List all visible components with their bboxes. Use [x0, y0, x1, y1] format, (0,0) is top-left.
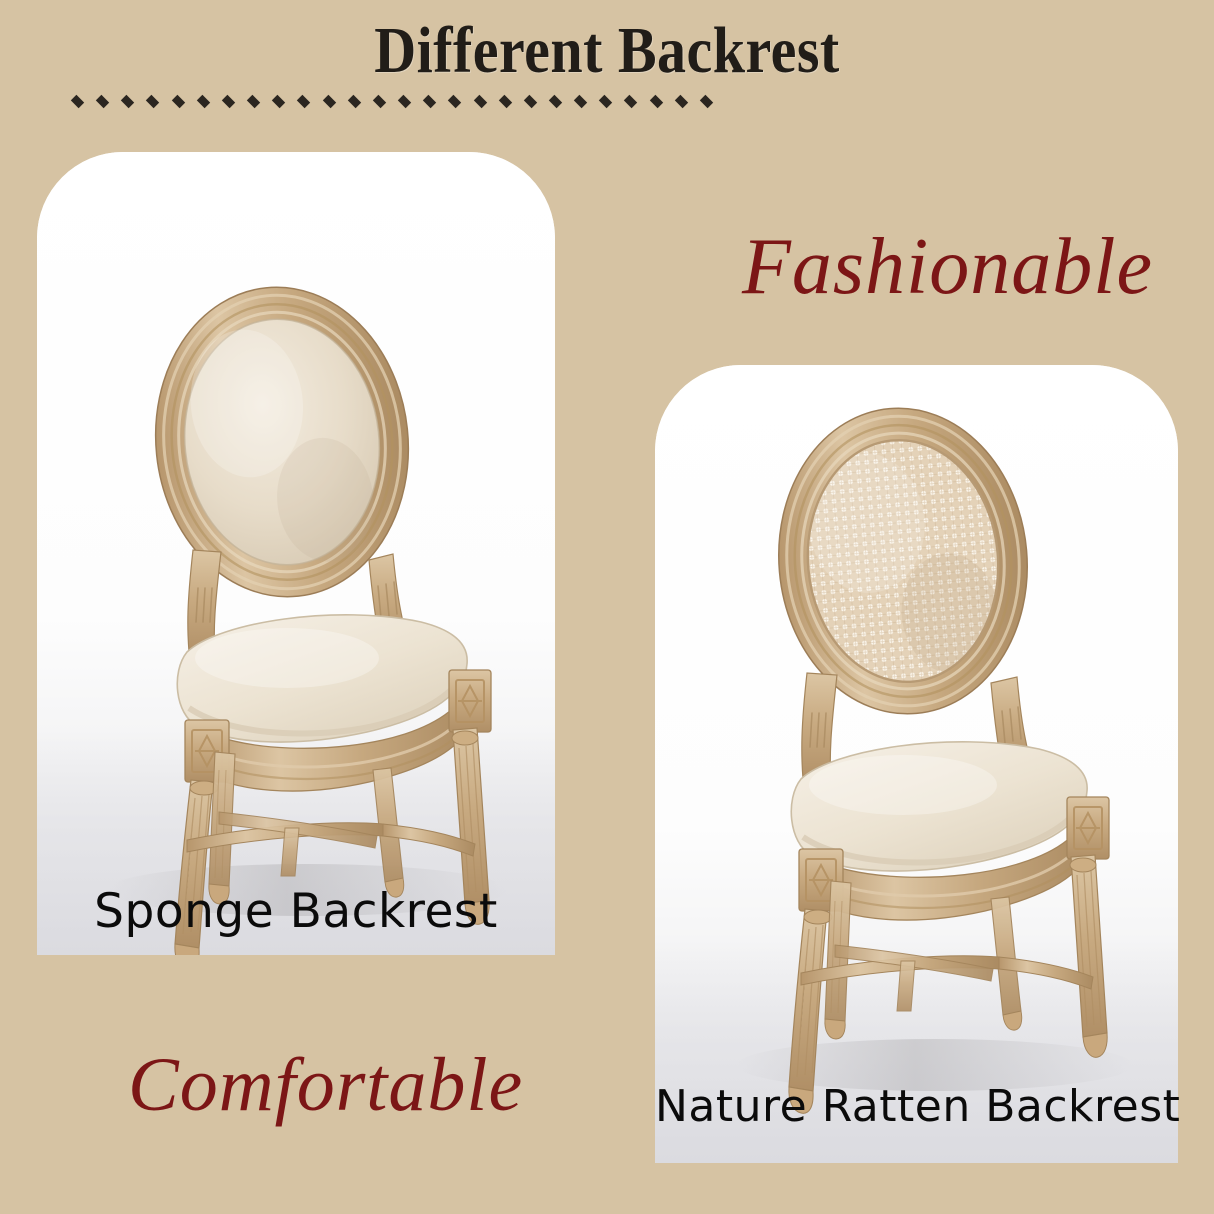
- diamond-icon: [222, 94, 235, 107]
- caption-sponge-backrest: Sponge Backrest: [37, 884, 555, 940]
- fashionable-accent-text: Fashionable: [742, 222, 1153, 312]
- page-title: Different Backrest: [73, 14, 1141, 88]
- diamond-icon: [272, 94, 285, 107]
- diamond-icon: [96, 94, 109, 107]
- diamond-icon: [700, 94, 713, 107]
- diamond-icon: [348, 94, 361, 107]
- chair-illustration-ratten: [655, 365, 1178, 1163]
- chair-illustration-sponge: [37, 152, 555, 955]
- diamond-icon: [146, 94, 159, 107]
- diamond-icon: [373, 94, 386, 107]
- comfortable-accent-text: Comfortable: [128, 1042, 523, 1128]
- diamond-icon: [624, 94, 637, 107]
- diamond-icon: [398, 94, 411, 107]
- diamond-icon: [649, 94, 662, 107]
- caption-ratten-backrest: Nature Ratten Backrest: [655, 1080, 1178, 1134]
- diamond-icon: [549, 94, 562, 107]
- diamond-icon: [322, 94, 335, 107]
- diamond-icon: [121, 94, 134, 107]
- diamond-icon: [675, 94, 688, 107]
- title-block: Different Backrest: [0, 14, 1214, 88]
- diamond-icon: [423, 94, 436, 107]
- poster-canvas: Different Backrest Fashionable Comfortab…: [0, 0, 1214, 1214]
- diamond-divider: [72, 92, 712, 110]
- diamond-icon: [448, 94, 461, 107]
- diamond-icon: [524, 94, 537, 107]
- diamond-icon: [197, 94, 210, 107]
- diamond-icon: [599, 94, 612, 107]
- diamond-icon: [498, 94, 511, 107]
- diamond-icon: [71, 94, 84, 107]
- diamond-icon: [473, 94, 486, 107]
- diamond-icon: [247, 94, 260, 107]
- product-photo-sponge: [37, 152, 555, 955]
- diamond-icon: [171, 94, 184, 107]
- diamond-icon: [574, 94, 587, 107]
- diamond-icon: [297, 94, 310, 107]
- product-photo-ratten: [655, 365, 1178, 1163]
